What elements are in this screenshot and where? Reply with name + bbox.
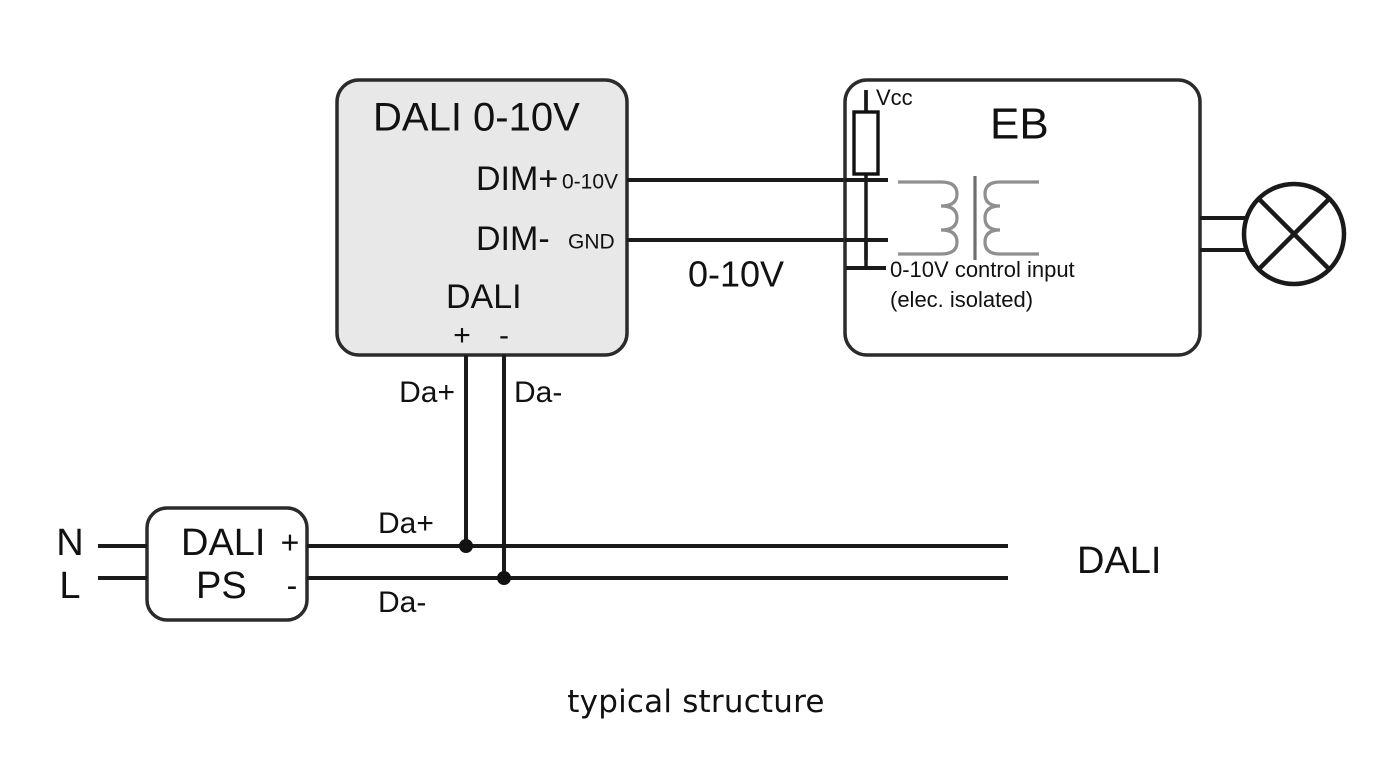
electronic-ballast-block: EB Vcc 0-10V control input (elec. isolat… [845,80,1200,355]
dali-ps-output-plus-sign: + [281,524,300,560]
dali-power-supply-block: DALI PS + - N L [56,508,307,620]
dali-ps-output-minus-sign: - [287,567,298,603]
dali-converter-title: DALI 0-10V [373,96,580,140]
pin-sublabel-dim-plus: 0-10V [562,171,618,194]
dali-converter-block: DALI 0-10V DIM+ 0-10V DIM- GND DALI + - [337,80,627,355]
analog-link-label: 0-10V [688,254,784,295]
dali-bus-name-label: DALI [1077,540,1161,582]
wiring-diagram: DALI 0-10V DIM+ 0-10V DIM- GND DALI + - … [0,0,1392,782]
pin-label-dim-minus: DIM- [476,220,550,258]
junction-dot-da-minus [497,571,511,585]
dali-terminal-minus-sign: - [499,319,509,352]
dali-bus-group: Da+ Da- DALI [307,507,1161,619]
dali-terminal-plus-sign: + [453,319,471,352]
bus-label-da-minus: Da- [378,586,426,619]
control-input-label-line1: 0-10V control input [890,257,1075,282]
diagram-caption: typical structure [0,684,1392,720]
drop-label-da-minus: Da- [514,376,562,409]
mains-neutral-label: N [56,522,83,564]
lamp-icon [1244,184,1344,284]
pin-label-dim-plus: DIM+ [476,160,558,198]
drop-label-da-plus: Da+ [399,376,455,409]
pullup-resistor [854,112,878,174]
eb-title: EB [990,100,1049,149]
dali-ps-label-line1: DALI [181,522,265,564]
lamp-output-group [1200,184,1344,284]
bus-label-da-plus: Da+ [378,507,434,540]
mains-live-label: L [59,565,80,607]
pin-sublabel-dim-minus: GND [568,231,615,254]
control-input-label-line2: (elec. isolated) [890,287,1033,312]
analog-control-wires: 0-10V [627,180,872,295]
dali-ps-label-line2: PS [196,565,247,607]
vcc-label: Vcc [876,85,913,110]
junction-dot-da-plus [459,539,473,553]
dali-terminal-group-label: DALI [446,278,522,316]
